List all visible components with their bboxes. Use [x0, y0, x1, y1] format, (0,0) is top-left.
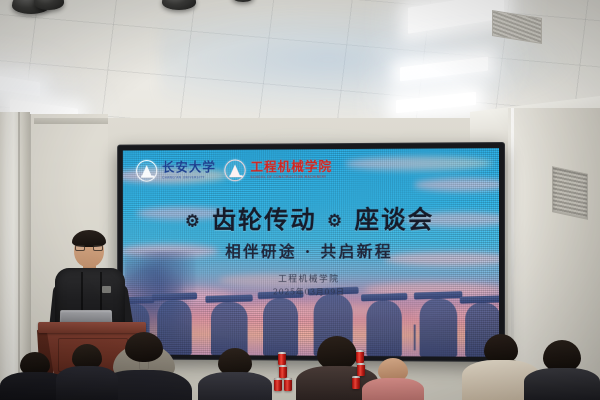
audience-body	[362, 378, 424, 400]
audience-head	[125, 332, 163, 362]
gear-icon: ⚙	[185, 212, 202, 232]
audience-member	[362, 358, 424, 400]
cloud	[414, 178, 499, 191]
college-emblem-icon	[224, 160, 245, 182]
screen-organizer: 工程机械学院	[123, 272, 499, 285]
audience-member	[198, 348, 272, 400]
screen-title-part-one: 齿轮传动	[212, 206, 317, 235]
glasses-icon	[75, 245, 103, 251]
jacket-logo	[102, 286, 111, 293]
audience-body	[56, 366, 118, 400]
university-name-cn: 长安大学	[162, 162, 216, 175]
beverage-can	[279, 365, 287, 378]
beverage-can	[274, 378, 282, 391]
audience-body	[524, 368, 600, 400]
gear-icon: ⚙	[327, 211, 344, 231]
university-name-en: CHANG'AN UNIVERSITY	[162, 176, 216, 179]
beverage-can	[352, 376, 360, 389]
lamp-post	[414, 325, 415, 351]
screen-date: 2025年03月09日	[123, 286, 499, 298]
audience-member	[56, 344, 118, 400]
screen-title-part-two: 座谈会	[354, 205, 434, 234]
graduate-silhouette	[420, 299, 458, 357]
audience-member	[524, 340, 600, 400]
beverage-can	[278, 352, 286, 365]
screen-subtitle: 相伴研途 · 共启新程	[123, 238, 499, 262]
university-name-block: 长安大学 CHANG'AN UNIVERSITY	[162, 162, 216, 180]
audience-head	[317, 336, 357, 370]
audience-body	[198, 372, 272, 400]
wall-rail	[34, 118, 108, 124]
university-tower-emblem-icon	[136, 160, 157, 182]
college-name-en: SCHOOL OF CONSTRUCTION MACHINERY	[250, 175, 332, 179]
screen-main-title: ⚙ 齿轮传动 ⚙ 座谈会	[123, 200, 499, 236]
led-display-screen: 长安大学 CHANG'AN UNIVERSITY 工程机械学院 SCHOOL O…	[118, 143, 504, 361]
beverage-can	[284, 378, 292, 391]
beverage-can	[356, 350, 364, 363]
college-name-cn: 工程机械学院	[250, 161, 332, 174]
beverage-can	[357, 363, 365, 376]
air-vent-icon	[552, 166, 588, 220]
led-display-surface: 长安大学 CHANG'AN UNIVERSITY 工程机械学院 SCHOOL O…	[123, 148, 499, 357]
college-name-block: 工程机械学院 SCHOOL OF CONSTRUCTION MACHINERY	[250, 161, 332, 179]
screen-logo-row: 长安大学 CHANG'AN UNIVERSITY 工程机械学院 SCHOOL O…	[136, 159, 332, 182]
photo-scene: 长安大学 CHANG'AN UNIVERSITY 工程机械学院 SCHOOL O…	[0, 0, 600, 400]
